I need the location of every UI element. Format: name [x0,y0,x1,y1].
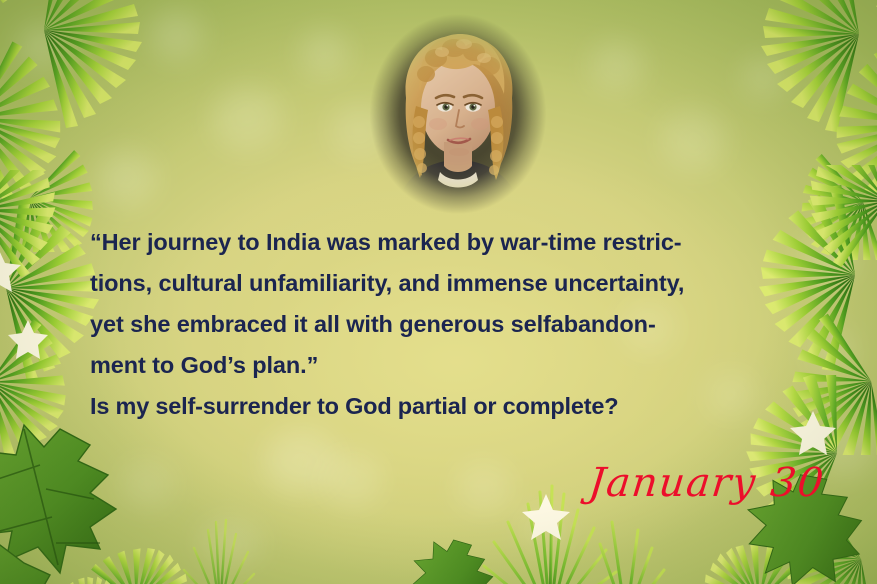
bokeh-spot [660,110,726,172]
bokeh-spot [18,24,64,68]
star-icon [790,411,836,455]
bokeh-spot [300,30,348,76]
bokeh-spot [456,462,512,512]
reflection-question: Is my self-surrender to God partial or c… [90,386,790,427]
bokeh-spot [120,460,174,508]
portrait-illustration [366,10,550,218]
portrait-image [366,10,550,218]
bokeh-spot [742,56,786,98]
quote-line-3: yet she embraced it all with generous se… [90,304,790,345]
bokeh-spot [520,510,570,550]
bokeh-spot [200,520,262,566]
quote-line-4: ment to God’s plan.” [90,345,790,386]
bokeh-spot [590,40,644,92]
bokeh-spot [96,150,156,206]
quote-line-2: tions, cultural unfamiliarity, and immen… [90,263,790,304]
quote-line-1: “Her journey to India was marked by war-… [90,222,790,263]
star-icon [522,494,570,540]
bokeh-spot [322,452,382,506]
star-icon [0,248,48,359]
devotional-card: “Her journey to India was marked by war-… [0,0,877,584]
bokeh-spot [212,86,282,152]
bokeh-spot [264,430,338,492]
foliage-top-right-icon [655,0,877,260]
bokeh-spot [808,330,856,376]
bokeh-spot [800,230,856,284]
foliage-top-left-icon [0,0,234,252]
foliage-bottom-grass-icon [150,500,370,584]
date-label: January 30 [587,460,827,506]
portrait-frame [366,10,550,218]
bokeh-spot [150,10,202,60]
quote-block: “Her journey to India was marked by war-… [90,222,790,427]
